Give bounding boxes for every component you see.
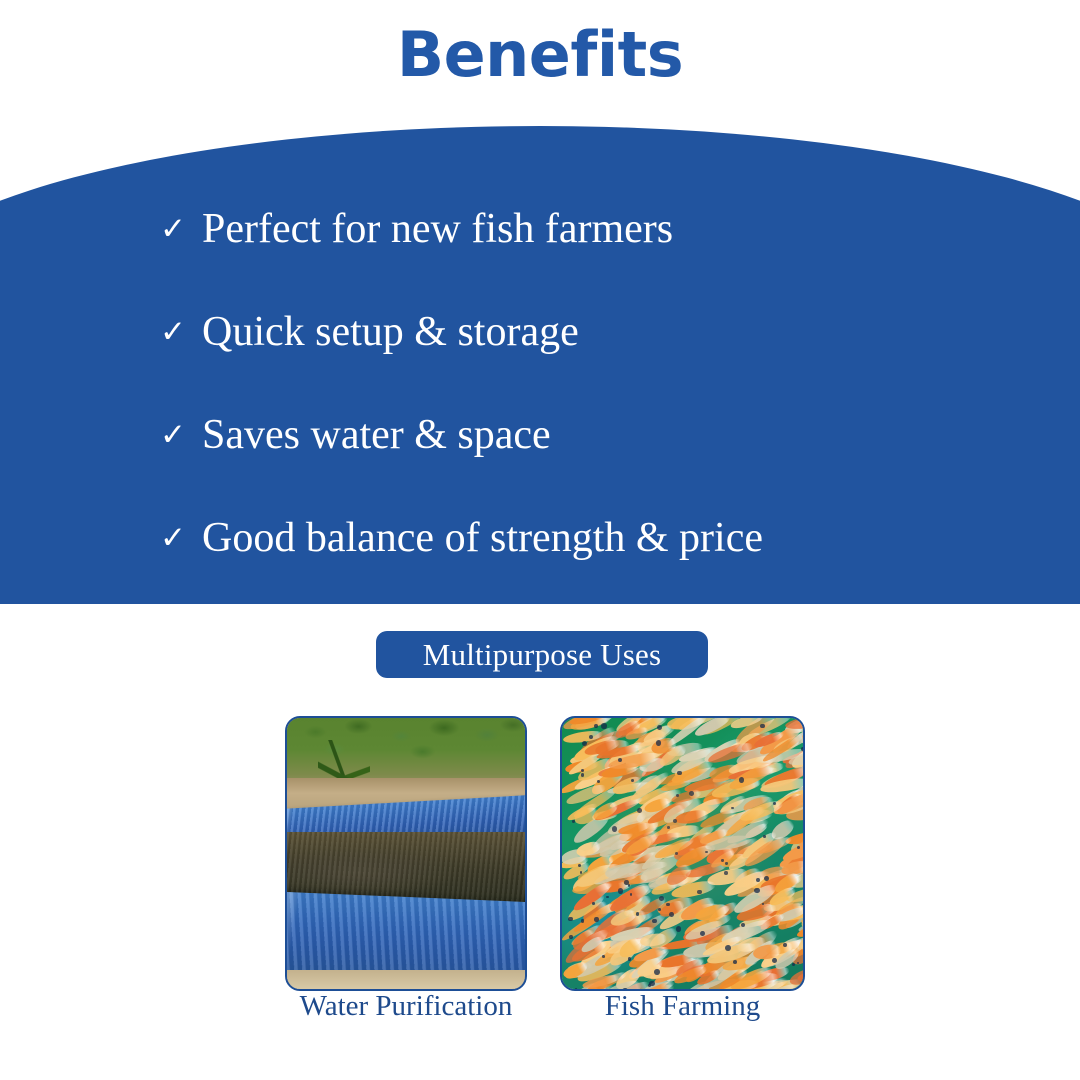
tilapia-school-image	[562, 718, 803, 989]
use-case-card-fish-farming: Fish Farming	[560, 716, 805, 991]
poster-canvas: Benefits ✓ Perfect for new fish farmers …	[0, 0, 1080, 1080]
use-case-card-water-purification: Water Purification	[285, 716, 527, 991]
card-caption: Fish Farming	[605, 992, 761, 1021]
light-glow	[562, 718, 803, 989]
sand-lower	[287, 970, 525, 989]
fish-farming-photo	[560, 716, 805, 991]
water-purification-photo	[285, 716, 527, 991]
canal-tarpaulin-image	[287, 718, 525, 989]
use-cases: Water Purification Fish Farming	[0, 0, 1080, 1080]
card-caption: Water Purification	[300, 992, 513, 1021]
